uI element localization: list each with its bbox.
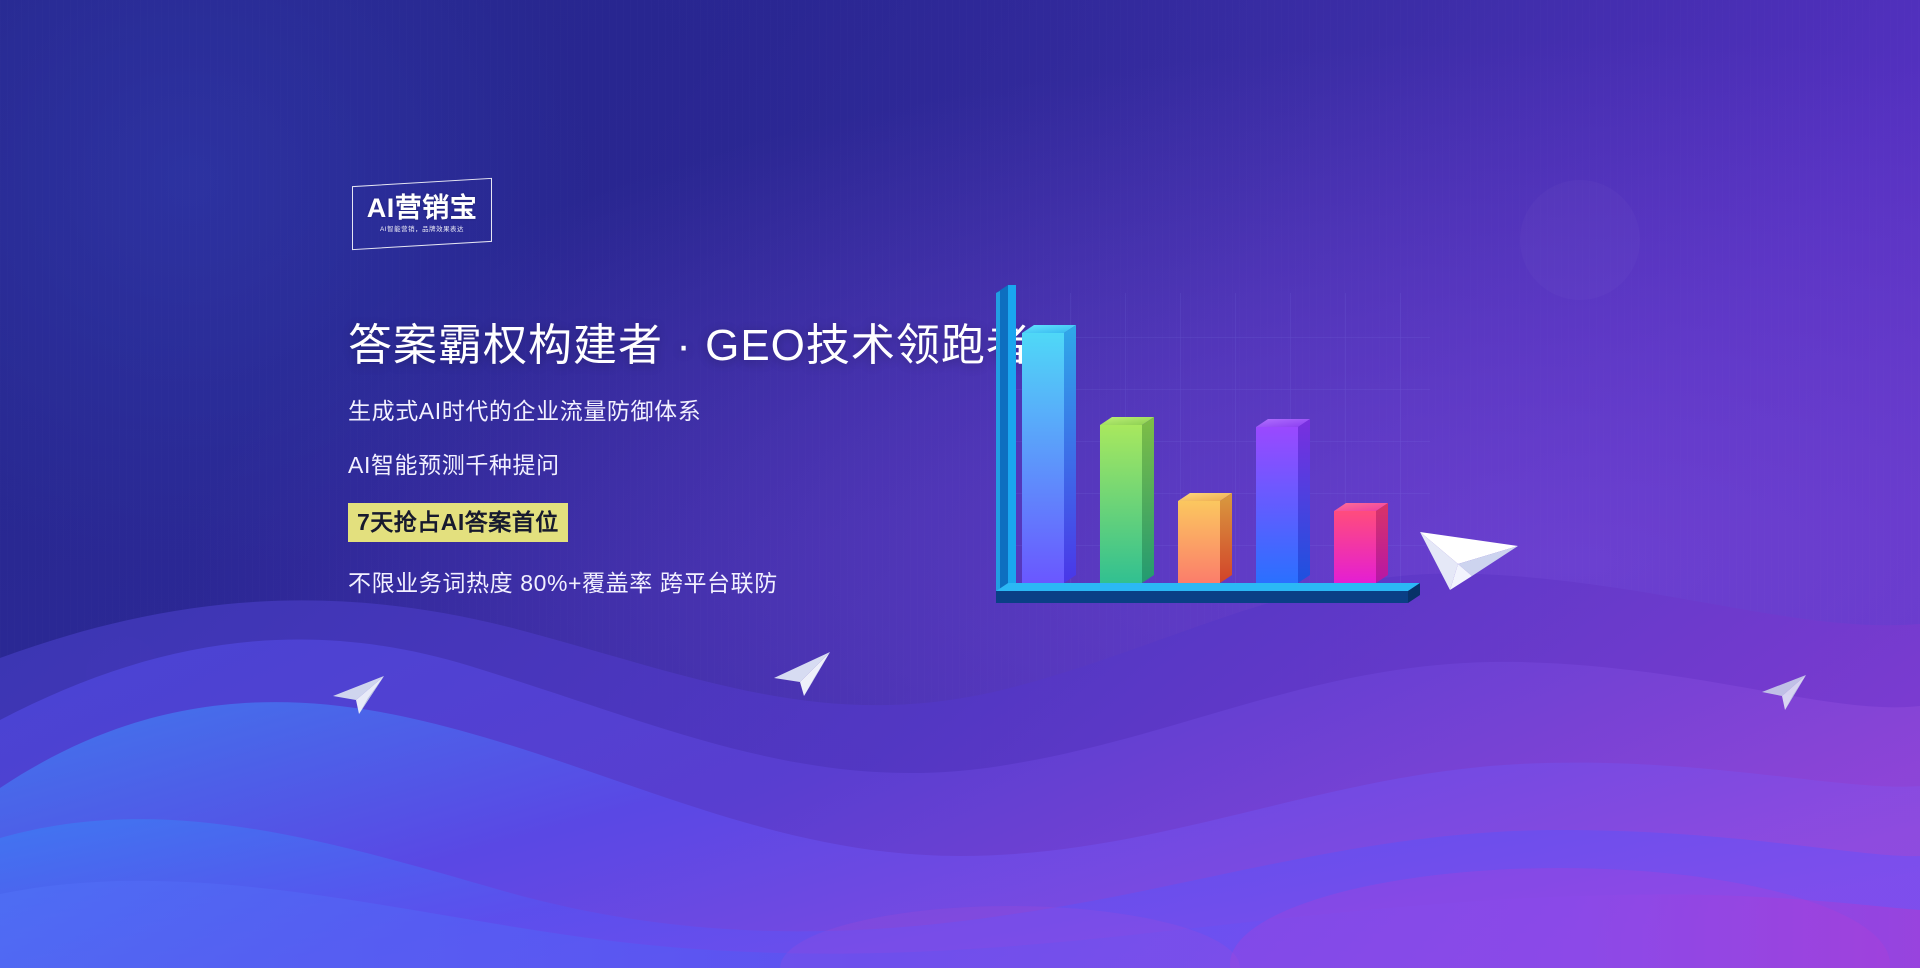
chart-base [996,583,1420,603]
bar-chart-illustration [960,285,1460,675]
chart-bar [1178,493,1232,583]
logo-tagline: AI智能营销，品牌效果表达 [352,225,492,233]
chart-y-axis [996,285,1016,601]
decor-bubble [1520,180,1640,300]
paper-plane-icon [1760,672,1808,712]
paper-plane-icon [330,672,386,716]
chart-bar [1334,503,1388,583]
hero-highlight-badge: 7天抢占AI答案首位 [348,503,568,542]
hero-banner: AI营销宝 AI智能营销，品牌效果表达 答案霸权构建者 · GEO技术领跑者 生… [0,0,1920,968]
decor-bubble [330,690,374,734]
decor-bubble [86,636,160,710]
chart-bar [1022,325,1076,583]
brand-logo[interactable]: AI营销宝 AI智能营销，品牌效果表达 [352,182,492,246]
chart-bar [1256,419,1310,583]
logo-wordmark: AI营销宝 [346,193,498,223]
paper-plane-icon [770,648,832,698]
chart-bar [1100,417,1154,583]
